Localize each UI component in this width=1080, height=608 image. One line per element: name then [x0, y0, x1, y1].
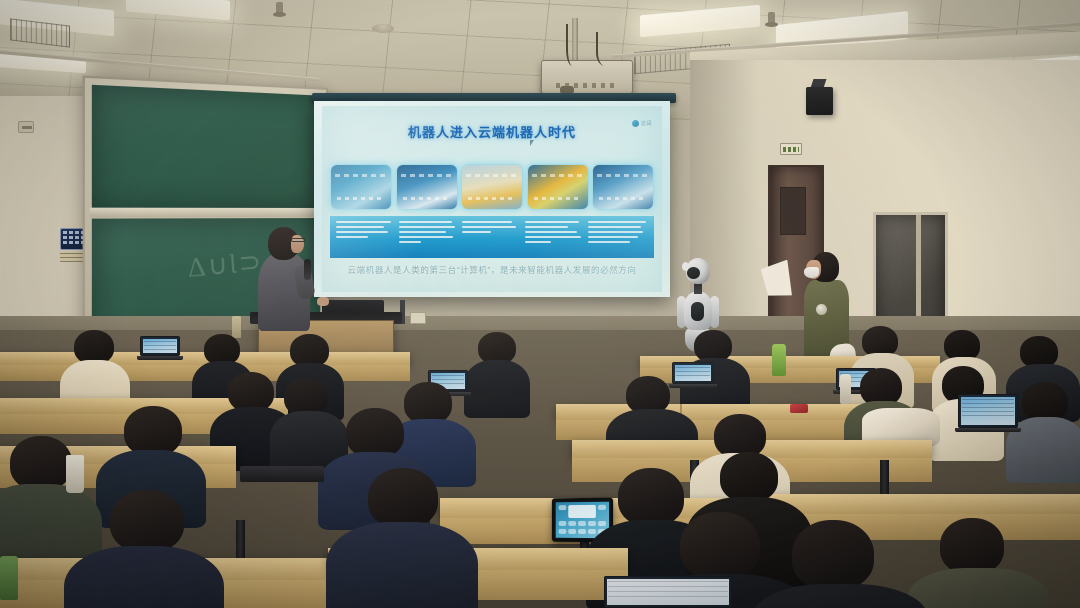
head — [680, 512, 760, 580]
head — [124, 406, 182, 456]
thumb-image — [593, 165, 653, 209]
app-icon[interactable] — [578, 521, 586, 526]
slide-thumb-1 — [330, 164, 392, 210]
water-bottle-podium — [232, 316, 241, 338]
head — [368, 468, 438, 528]
laptop-r2-right[interactable] — [958, 394, 1018, 428]
thumb-image — [331, 165, 391, 209]
thumb-image — [462, 165, 522, 209]
head — [940, 518, 1004, 574]
app-icon[interactable] — [559, 529, 567, 534]
phone-red — [790, 404, 808, 413]
wall-speaker — [806, 87, 833, 115]
blackboard-rail — [90, 208, 323, 218]
band-column-2 — [399, 221, 459, 253]
head — [720, 452, 778, 502]
band-column-4 — [525, 221, 585, 253]
thumb-caption-streak-2 — [534, 197, 578, 200]
head — [714, 414, 766, 458]
app-icon[interactable] — [568, 529, 576, 534]
app-icon[interactable] — [568, 521, 576, 526]
slide-text-band — [330, 216, 654, 258]
presenter-hand — [317, 297, 329, 306]
laptop-r1-c[interactable] — [672, 362, 714, 384]
torso — [326, 522, 478, 608]
slide-thumb-4 — [527, 164, 589, 210]
projection-screen: 机器人进入云端机器人时代 达闼 — [314, 101, 670, 297]
face-mask-icon — [804, 267, 819, 278]
robot-face-visor — [687, 267, 700, 279]
slide-content: 机器人进入云端机器人时代 达闼 — [322, 106, 662, 292]
head — [10, 436, 72, 490]
laptop-screen — [604, 576, 732, 608]
wall-outlet — [18, 121, 34, 133]
desk-row-2-right — [556, 404, 886, 420]
thumb-caption-streak — [532, 174, 584, 177]
laptop-screen — [140, 336, 180, 356]
slide-title: 机器人进入云端机器人时代 — [322, 122, 662, 141]
lecture-hall-photo: Δ∪Ɩ⊃ 机器人进入云端机器人时代 达闼 — [0, 0, 1080, 608]
tablet-widget[interactable] — [568, 505, 596, 518]
projector-cable-2 — [596, 32, 618, 66]
laptop-screen — [958, 394, 1018, 428]
head — [618, 468, 684, 526]
exit-sign — [780, 143, 802, 155]
band-column-1 — [336, 221, 396, 253]
laptop-screen — [672, 362, 714, 384]
head — [110, 490, 184, 552]
laptop-content — [962, 399, 1014, 418]
torso — [464, 360, 530, 418]
slide-thumbnail-row — [330, 164, 654, 210]
door-window — [780, 187, 806, 235]
logo-text: 达闼 — [641, 120, 652, 127]
slide-logo: 达闼 — [632, 120, 652, 127]
head — [346, 408, 404, 458]
projector-cable-1 — [566, 24, 582, 66]
laptop-content — [676, 367, 710, 379]
screen-surface: 机器人进入云端机器人时代 达闼 — [314, 101, 670, 297]
app-icon[interactable] — [578, 529, 586, 534]
thumb-caption-streak-2 — [403, 197, 447, 200]
handheld-microphone — [304, 259, 311, 280]
thumb-caption-streak-2 — [599, 197, 643, 200]
thumb-caption-streak — [597, 174, 649, 177]
thumb-caption-streak — [466, 174, 518, 177]
laptop-base — [955, 428, 1021, 432]
smoke-detector — [372, 24, 394, 33]
chalk-writing: Δ∪Ɩ⊃ — [187, 246, 264, 284]
slide-thumb-2 — [396, 164, 458, 210]
head — [1022, 382, 1068, 422]
glasses-icon — [291, 238, 305, 242]
thumb-caption-streak-2 — [337, 197, 381, 200]
laptop-r1-a[interactable] — [140, 336, 180, 356]
standing-attendee — [800, 252, 852, 362]
app-icon[interactable] — [598, 521, 606, 526]
water-bottle-r2 — [840, 374, 851, 404]
bottle-left-edge — [0, 556, 18, 600]
head — [792, 520, 874, 590]
drink-bottle-green — [772, 344, 786, 376]
sprinkler-head-1 — [276, 2, 283, 14]
head — [404, 382, 452, 424]
app-icon[interactable] — [588, 521, 596, 526]
torso — [64, 546, 224, 608]
thumb-caption-streak — [401, 174, 453, 177]
band-column-5 — [588, 221, 648, 253]
head — [74, 330, 114, 364]
closed-notebook — [240, 466, 324, 482]
laptop-front-row[interactable] — [604, 576, 732, 608]
laptop-base — [137, 356, 183, 360]
thermos-cup — [66, 455, 84, 493]
thumb-image — [528, 165, 588, 209]
ceiling-projector — [541, 60, 633, 94]
jacket-emblem — [816, 304, 827, 315]
laptop-content — [608, 581, 728, 599]
chalk-box — [410, 312, 426, 324]
band-column-3 — [462, 221, 522, 253]
head — [228, 372, 274, 412]
robot-ear — [682, 262, 689, 271]
laptop-content — [144, 341, 176, 352]
blackboard-upper-panel — [92, 85, 320, 208]
slide-caption: 云端机器人是人类的第三台“计算机”，是未来智能机器人发展的必然方向 — [322, 264, 662, 276]
robot-neck — [694, 283, 702, 294]
robot-chest-panel — [691, 302, 704, 321]
logo-mark-icon — [632, 120, 639, 127]
torso — [908, 568, 1048, 608]
app-icon[interactable] — [598, 505, 606, 510]
thumb-caption-streak-2 — [468, 197, 512, 200]
slide-thumb-5 — [592, 164, 654, 210]
desk-row-4-right — [760, 494, 1080, 514]
sprinkler-head-2 — [768, 12, 775, 24]
mouse-cursor-icon — [530, 140, 534, 146]
app-icon[interactable] — [559, 505, 567, 510]
app-icon[interactable] — [588, 529, 596, 534]
thumb-caption-streak — [335, 174, 387, 177]
app-icon[interactable] — [559, 521, 567, 526]
slide-thumb-3 — [461, 164, 523, 210]
laptop-base — [669, 384, 717, 388]
thumb-image — [397, 165, 457, 209]
